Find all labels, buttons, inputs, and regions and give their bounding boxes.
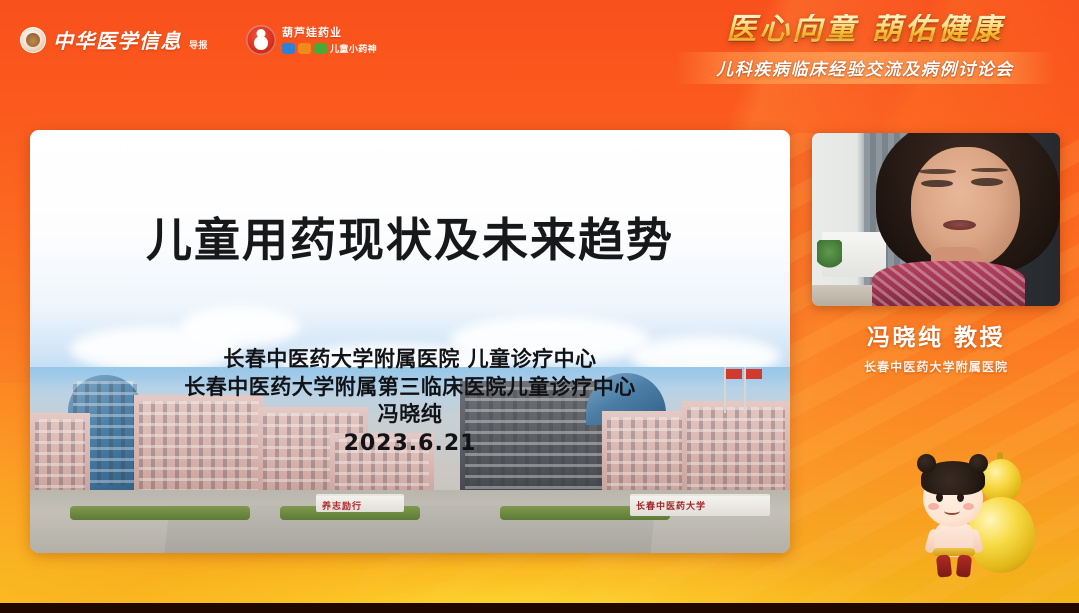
- mascot-hair-bun: [969, 454, 988, 473]
- slide-subtitle-line-1: 长春中医药大学附属医院 儿童诊疗中心: [30, 346, 790, 374]
- webcam-speaker-brow: [971, 168, 1008, 172]
- webcam-speaker-eye: [971, 178, 1003, 186]
- logo-pill-orange-icon: [298, 43, 311, 54]
- logo-china-medical-information-herald: 中华医学信息 导报: [20, 25, 208, 54]
- event-title: 医心向童 葫佑健康: [675, 14, 1055, 46]
- logo-huluwa-pharma: 葫芦娃药业 儿童小药神: [246, 24, 377, 55]
- logo-secondary-line2: 儿童小药神: [330, 42, 377, 55]
- campus-hedge: [70, 506, 250, 520]
- mascot-hair-bun: [917, 454, 936, 473]
- event-subtitle: 儿科疾病临床经验交流及病例讨论会: [675, 55, 1055, 80]
- gourd-badge-icon: [246, 25, 276, 55]
- campus-sign-left: 养志励行: [316, 494, 404, 512]
- slide-subtitle-block: 长春中医药大学附属医院 儿童诊疗中心 长春中医药大学附属第三临床医院儿童诊疗中心…: [30, 346, 790, 458]
- slide-title: 儿童用药现状及未来趋势: [30, 204, 790, 270]
- mascot-cheek: [963, 503, 974, 510]
- mascot-smile: [944, 507, 960, 515]
- bottom-bar: [0, 603, 1079, 613]
- mascot-cheek: [928, 503, 939, 510]
- header-logos: 中华医学信息 导报 葫芦娃药业 儿童小药神: [20, 24, 377, 55]
- logo-primary-wordmark: 中华医学信息: [53, 25, 182, 54]
- webcam-speaker-mouth: [943, 220, 975, 230]
- webcam-tile[interactable]: [812, 133, 1060, 306]
- mascot-leg: [956, 554, 972, 577]
- slide-subtitle-line-2: 长春中医药大学附属第三临床医院儿童诊疗中心: [30, 374, 790, 402]
- mascot-eye: [957, 493, 964, 502]
- mascot-huluwa: [915, 443, 1065, 593]
- broadcast-stage: 中华医学信息 导报 葫芦娃药业 儿童小药神 医心向童 葫佑健康 儿科疾病临床经验…: [0, 0, 1079, 613]
- webcam-speaker-brow: [919, 169, 956, 173]
- cloud-icon: [180, 306, 300, 346]
- webcam-plant: [817, 240, 842, 269]
- presentation-slide[interactable]: 养志励行 长春中医药大学 儿童用药现状及未来趋势 长春中医药大学附属医院 儿童诊…: [30, 130, 790, 553]
- speaker-affiliation: 长春中医药大学附属医院: [812, 358, 1060, 375]
- campus-sign-right-text: 长春中医药大学: [636, 499, 706, 512]
- mascot-child-icon: [915, 455, 993, 581]
- slide-date: 2023.6.21: [30, 429, 790, 458]
- cma-seal-icon: [20, 27, 46, 53]
- logo-secondary-line1: 葫芦娃药业: [282, 24, 377, 40]
- speaker-caption: 冯晓纯 教授 长春中医药大学附属医院: [812, 318, 1060, 375]
- mascot-eye: [936, 493, 943, 502]
- campus-sign-right: 长春中医药大学: [630, 494, 770, 516]
- event-subtitle-band: 儿科疾病临床经验交流及病例讨论会: [675, 52, 1055, 84]
- logo-primary-suffix: 导报: [189, 38, 208, 51]
- slide-subtitle-line-3: 冯晓纯: [30, 401, 790, 429]
- mascot-leg: [936, 554, 952, 577]
- speaker-name: 冯晓纯 教授: [812, 318, 1060, 352]
- event-banner: 医心向童 葫佑健康 儿科疾病临床经验交流及病例讨论会: [675, 14, 1055, 84]
- logo-pill-blue-icon: [282, 43, 295, 54]
- logo-pill-green-icon: [314, 43, 327, 54]
- campus-sign-left-text: 养志励行: [322, 499, 362, 512]
- webcam-speaker-garment: [872, 261, 1026, 306]
